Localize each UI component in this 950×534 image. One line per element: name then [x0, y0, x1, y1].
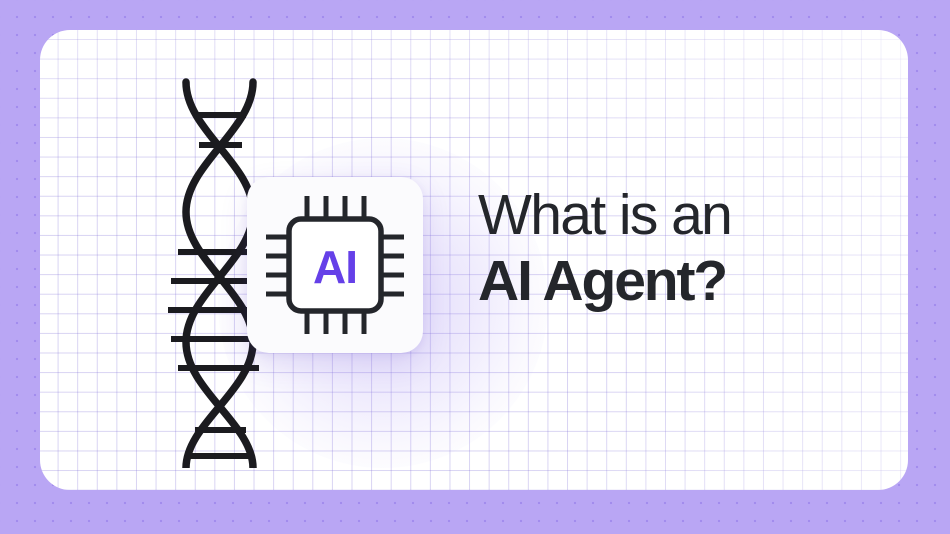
title-line-2: AI Agent? — [478, 252, 878, 310]
slide-canvas: AI What is an AI Agent? — [0, 0, 950, 534]
title-line-1: What is an — [478, 186, 878, 244]
content-card: AI What is an AI Agent? — [40, 30, 908, 490]
chip-ai-label: AI — [313, 241, 357, 293]
page-title: What is an AI Agent? — [478, 186, 878, 310]
ai-chip-tile: AI — [247, 177, 423, 353]
ai-chip-icon: AI — [260, 190, 410, 340]
